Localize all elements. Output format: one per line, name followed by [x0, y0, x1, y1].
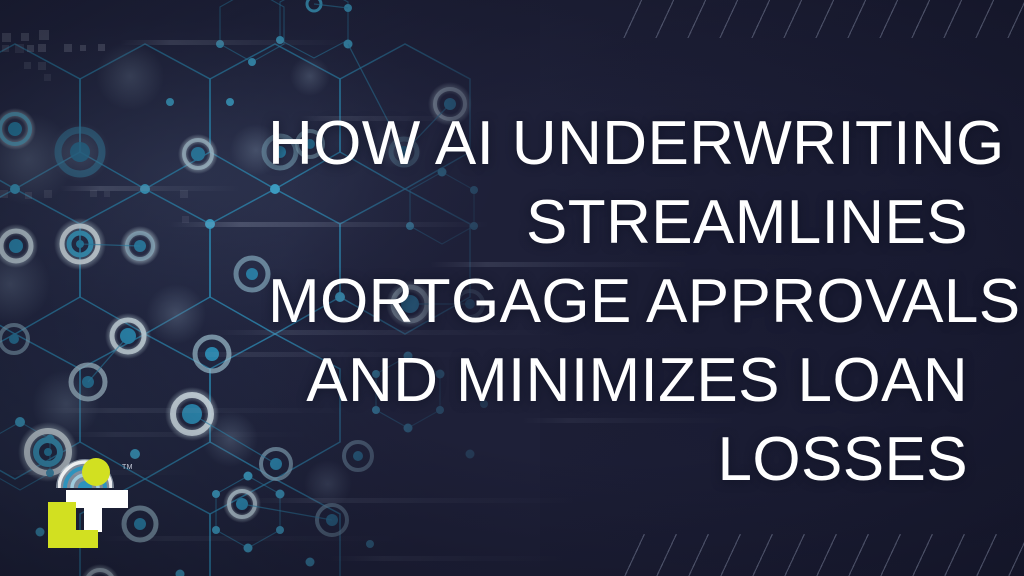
- title-line-4: AND MINIMIZES LOAN: [268, 341, 968, 420]
- title-line-2: STREAMLINES: [268, 183, 968, 262]
- title-line-3: MORTGAGE APPROVALS: [268, 262, 968, 341]
- title-line-5: LOSSES: [268, 420, 968, 499]
- page-title: HOW AI UNDERWRITING STREAMLINES MORTGAGE…: [268, 104, 968, 499]
- slide-canvas: HOW AI UNDERWRITING STREAMLINES MORTGAGE…: [0, 0, 1024, 576]
- lt-monogram-logo[interactable]: TM: [36, 438, 156, 548]
- trademark-symbol: TM: [122, 464, 133, 471]
- title-line-1: HOW AI UNDERWRITING: [268, 104, 968, 183]
